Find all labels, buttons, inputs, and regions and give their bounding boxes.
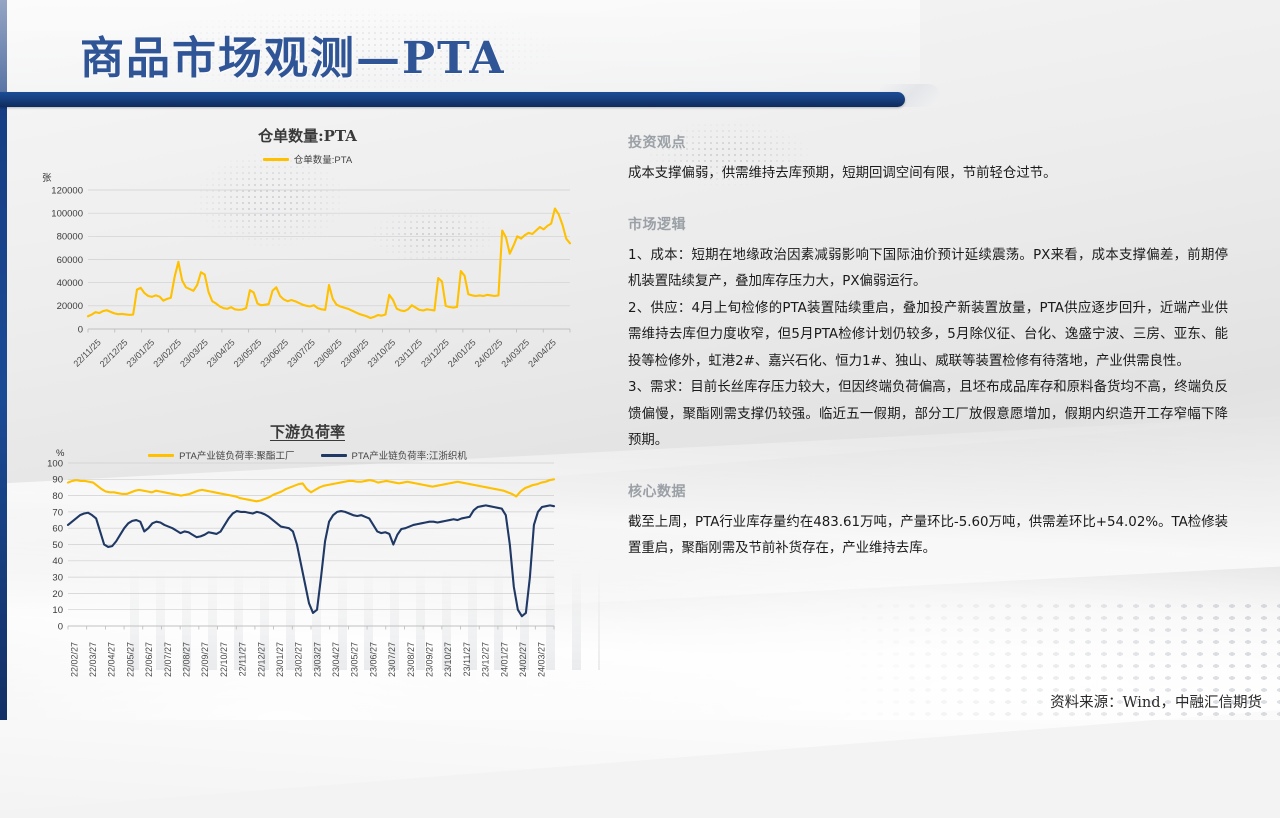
chart-warrant-unit: 张 bbox=[42, 170, 595, 184]
legend-item: 仓单数量:PTA bbox=[263, 152, 352, 166]
x-axis-tick-label: 23/05/25 bbox=[232, 337, 264, 369]
section-paragraph: 2、供应：4月上旬检修的PTA装置陆续重启，叠加投产新装置放量，PTA供应逐步回… bbox=[628, 296, 1228, 376]
x-axis-tick-label: 23/03/27 bbox=[312, 642, 322, 677]
x-axis-tick-label: 23/09/27 bbox=[425, 642, 435, 677]
section-spacer bbox=[628, 455, 1228, 481]
series-line bbox=[68, 479, 554, 501]
x-axis-tick-label: 24/02/25 bbox=[473, 337, 505, 369]
x-axis-tick-label: 23/07/25 bbox=[285, 337, 317, 369]
y-axis-tick-label: 40000 bbox=[57, 278, 83, 289]
x-axis-tick-label: 23/04/27 bbox=[331, 642, 341, 677]
x-axis-tick-label: 22/04/27 bbox=[107, 642, 117, 677]
y-axis-tick-label: 90 bbox=[52, 475, 63, 486]
x-axis-tick-label: 24/04/25 bbox=[526, 337, 558, 369]
x-axis-tick-label: 22/10/27 bbox=[219, 642, 229, 677]
x-axis-tick-label: 23/09/25 bbox=[339, 337, 371, 369]
y-axis-tick-label: 120000 bbox=[51, 185, 83, 196]
y-axis-tick-label: 20000 bbox=[57, 301, 83, 312]
x-axis-tick-label: 23/02/25 bbox=[151, 337, 183, 369]
analysis-content: 投资观点成本支撑偏弱，供需维持去库预期，短期回调空间有限，节前轻仓过节。市场逻辑… bbox=[628, 132, 1228, 563]
charts-column: 仓单数量:PTA 仓单数量:PTA 张 02000040000600008000… bbox=[20, 125, 595, 700]
x-axis-tick-label: 24/03/25 bbox=[499, 337, 531, 369]
x-axis-tick-label: 23/11/25 bbox=[393, 337, 424, 368]
x-axis-tick-label: 22/12/25 bbox=[98, 337, 130, 369]
y-axis-tick-label: 100 bbox=[47, 458, 63, 469]
x-axis-tick-label: 23/05/27 bbox=[350, 642, 360, 677]
x-axis-tick-label: 22/11/27 bbox=[238, 642, 248, 676]
chart-warrant-svg: 02000040000600008000010000012000022/11/2… bbox=[20, 184, 580, 369]
chart-downstream-svg: 010203040506070809010022/02/2722/03/2722… bbox=[20, 459, 580, 634]
chart-warrant-title: 仓单数量:PTA bbox=[20, 125, 595, 146]
chart-downstream: 下游负荷率 PTA产业链负荷率:聚酯工厂 PTA产业链负荷率:江浙织机 % 01… bbox=[20, 421, 595, 634]
chart-warrant-plot: 02000040000600008000010000012000022/11/2… bbox=[20, 184, 595, 369]
x-axis-tick-label: 23/02/27 bbox=[294, 642, 304, 677]
y-axis-tick-label: 60000 bbox=[57, 255, 83, 266]
x-axis-tick-label: 22/02/27 bbox=[69, 642, 79, 677]
y-axis-tick-label: 80000 bbox=[57, 232, 83, 243]
chart-downstream-title: 下游负荷率 bbox=[20, 421, 595, 442]
y-axis-tick-label: 0 bbox=[58, 621, 63, 632]
chart-warrant: 仓单数量:PTA 仓单数量:PTA 张 02000040000600008000… bbox=[20, 125, 595, 369]
x-axis-tick-label: 22/08/27 bbox=[182, 642, 192, 677]
legend-swatch-icon bbox=[148, 454, 174, 457]
x-axis-tick-label: 23/06/27 bbox=[368, 642, 378, 677]
x-axis-tick-label: 23/08/27 bbox=[406, 642, 416, 677]
y-axis-tick-label: 60 bbox=[52, 524, 63, 535]
legend-swatch-icon bbox=[321, 454, 347, 457]
y-axis-tick-label: 10 bbox=[52, 605, 63, 616]
slide-header: 商品市场观测—PTA bbox=[0, 0, 1280, 110]
x-axis-tick-label: 24/01/25 bbox=[446, 337, 478, 369]
section-spacer bbox=[628, 188, 1228, 214]
legend-swatch-icon bbox=[263, 158, 289, 161]
y-axis-tick-label: 80 bbox=[52, 491, 63, 502]
section-paragraph: 1、成本：短期在地缘政治因素减弱影响下国际油价预计延续震荡。PX来看，成本支撑偏… bbox=[628, 243, 1228, 296]
x-axis-tick-label: 23/06/25 bbox=[258, 337, 290, 369]
y-axis-tick-label: 30 bbox=[52, 573, 63, 584]
x-axis-tick-label: 22/03/27 bbox=[88, 642, 98, 677]
x-axis-tick-label: 22/12/27 bbox=[256, 642, 266, 677]
source-footnote: 资料来源：Wind，中融汇信期货 bbox=[1050, 691, 1262, 712]
x-axis-tick-label: 22/09/27 bbox=[200, 642, 210, 677]
x-axis-tick-label: 23/03/25 bbox=[178, 337, 210, 369]
y-axis-tick-label: 50 bbox=[52, 540, 63, 551]
x-axis-tick-label: 22/11/25 bbox=[71, 337, 102, 368]
y-axis-tick-label: 40 bbox=[52, 556, 63, 567]
y-axis-tick-label: 20 bbox=[52, 589, 63, 600]
x-axis-tick-label: 23/08/25 bbox=[312, 337, 344, 369]
x-axis-tick-label: 22/05/27 bbox=[125, 642, 135, 677]
section-paragraph: 3、需求：目前长丝库存压力较大，但因终端负荷偏高，且坯布成品库存和原料备货均不高… bbox=[628, 375, 1228, 455]
section-paragraph: 截至上周，PTA行业库存量约在483.61万吨，产量环比-5.60万吨，供需差环… bbox=[628, 510, 1228, 563]
x-axis-tick-label: 23/10/27 bbox=[443, 642, 453, 677]
x-axis-tick-label: 24/02/27 bbox=[518, 642, 528, 677]
y-axis-tick-label: 100000 bbox=[51, 209, 83, 220]
chart-warrant-legend: 仓单数量:PTA bbox=[20, 152, 595, 166]
x-axis-tick-label: 23/07/27 bbox=[387, 642, 397, 677]
legend-label: 仓单数量:PTA bbox=[294, 152, 352, 166]
header-accent-bar bbox=[0, 92, 905, 107]
x-axis-tick-label: 23/12/27 bbox=[481, 642, 491, 677]
section-paragraph: 成本支撑偏弱，供需维持去库预期，短期回调空间有限，节前轻仓过节。 bbox=[628, 161, 1228, 188]
x-axis-tick-label: 23/01/27 bbox=[275, 642, 285, 677]
x-axis-tick-label: 23/01/25 bbox=[125, 337, 157, 369]
section-heading: 核心数据 bbox=[628, 481, 1228, 501]
section-heading: 市场逻辑 bbox=[628, 214, 1228, 234]
x-axis-tick-label: 23/04/25 bbox=[205, 337, 237, 369]
x-axis-tick-label: 22/06/27 bbox=[144, 642, 154, 677]
x-axis-tick-label: 23/11/27 bbox=[462, 642, 472, 676]
page-title: 商品市场观测—PTA bbox=[80, 22, 506, 86]
y-axis-tick-label: 0 bbox=[78, 324, 83, 335]
chart-downstream-plot: 010203040506070809010022/02/2722/03/2722… bbox=[20, 459, 595, 634]
y-axis-tick-label: 70 bbox=[52, 507, 63, 518]
x-axis-tick-label: 24/01/27 bbox=[499, 642, 509, 677]
x-axis-tick-label: 24/03/27 bbox=[537, 642, 547, 677]
x-axis-tick-label: 22/07/27 bbox=[163, 642, 173, 677]
series-line bbox=[88, 209, 570, 318]
x-axis-tick-label: 23/12/25 bbox=[419, 337, 451, 369]
x-axis-tick-label: 23/10/25 bbox=[366, 337, 398, 369]
section-heading: 投资观点 bbox=[628, 132, 1228, 152]
